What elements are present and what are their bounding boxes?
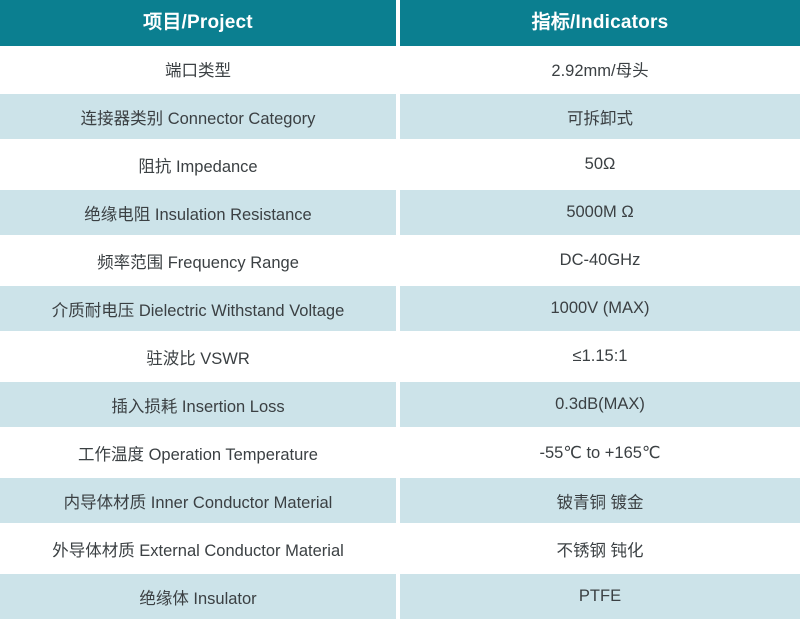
cell-indicator: DC-40GHz [400,238,800,283]
table-row: 连接器类别 Connector Category可拆卸式 [0,91,800,142]
cell-project: 插入损耗 Insertion Loss [0,379,400,430]
cell-project: 工作温度 Operation Temperature [0,430,400,475]
cell-indicator: 可拆卸式 [400,91,800,142]
cell-project: 端口类型 [0,46,400,91]
cell-project: 连接器类别 Connector Category [0,91,400,142]
table-row: 绝缘体 InsulatorPTFE [0,571,800,622]
cell-indicator: ≤1.15:1 [400,334,800,379]
cell-project: 外导体材质 External Conductor Material [0,526,400,571]
cell-project: 阻抗 Impedance [0,142,400,187]
table-header-row: 项目/Project 指标/Indicators [0,0,800,46]
table-row: 插入损耗 Insertion Loss0.3dB(MAX) [0,379,800,430]
specification-table: 项目/Project 指标/Indicators 端口类型2.92mm/母头连接… [0,0,800,622]
cell-indicator: 5000M Ω [400,187,800,238]
cell-indicator: -55℃ to +165℃ [400,430,800,475]
cell-project: 频率范围 Frequency Range [0,238,400,283]
table-row: 驻波比 VSWR≤1.15:1 [0,334,800,379]
column-header-project: 项目/Project [0,0,400,46]
column-header-indicators: 指标/Indicators [400,0,800,46]
table-row: 端口类型2.92mm/母头 [0,46,800,91]
cell-indicator: 1000V (MAX) [400,283,800,334]
cell-project: 介质耐电压 Dielectric Withstand Voltage [0,283,400,334]
cell-project: 绝缘体 Insulator [0,571,400,622]
table-row: 频率范围 Frequency RangeDC-40GHz [0,238,800,283]
table-row: 介质耐电压 Dielectric Withstand Voltage1000V … [0,283,800,334]
table-header: 项目/Project 指标/Indicators [0,0,800,46]
cell-indicator: 不锈钢 钝化 [400,526,800,571]
cell-indicator: PTFE [400,571,800,622]
cell-indicator: 2.92mm/母头 [400,46,800,91]
table-body: 端口类型2.92mm/母头连接器类别 Connector Category可拆卸… [0,46,800,622]
cell-project: 内导体材质 Inner Conductor Material [0,475,400,526]
table-row: 阻抗 Impedance50Ω [0,142,800,187]
table-row: 内导体材质 Inner Conductor Material铍青铜 镀金 [0,475,800,526]
cell-project: 驻波比 VSWR [0,334,400,379]
cell-project: 绝缘电阻 Insulation Resistance [0,187,400,238]
table-row: 绝缘电阻 Insulation Resistance5000M Ω [0,187,800,238]
table-row: 工作温度 Operation Temperature-55℃ to +165℃ [0,430,800,475]
cell-indicator: 铍青铜 镀金 [400,475,800,526]
table-row: 外导体材质 External Conductor Material不锈钢 钝化 [0,526,800,571]
cell-indicator: 0.3dB(MAX) [400,379,800,430]
cell-indicator: 50Ω [400,142,800,187]
